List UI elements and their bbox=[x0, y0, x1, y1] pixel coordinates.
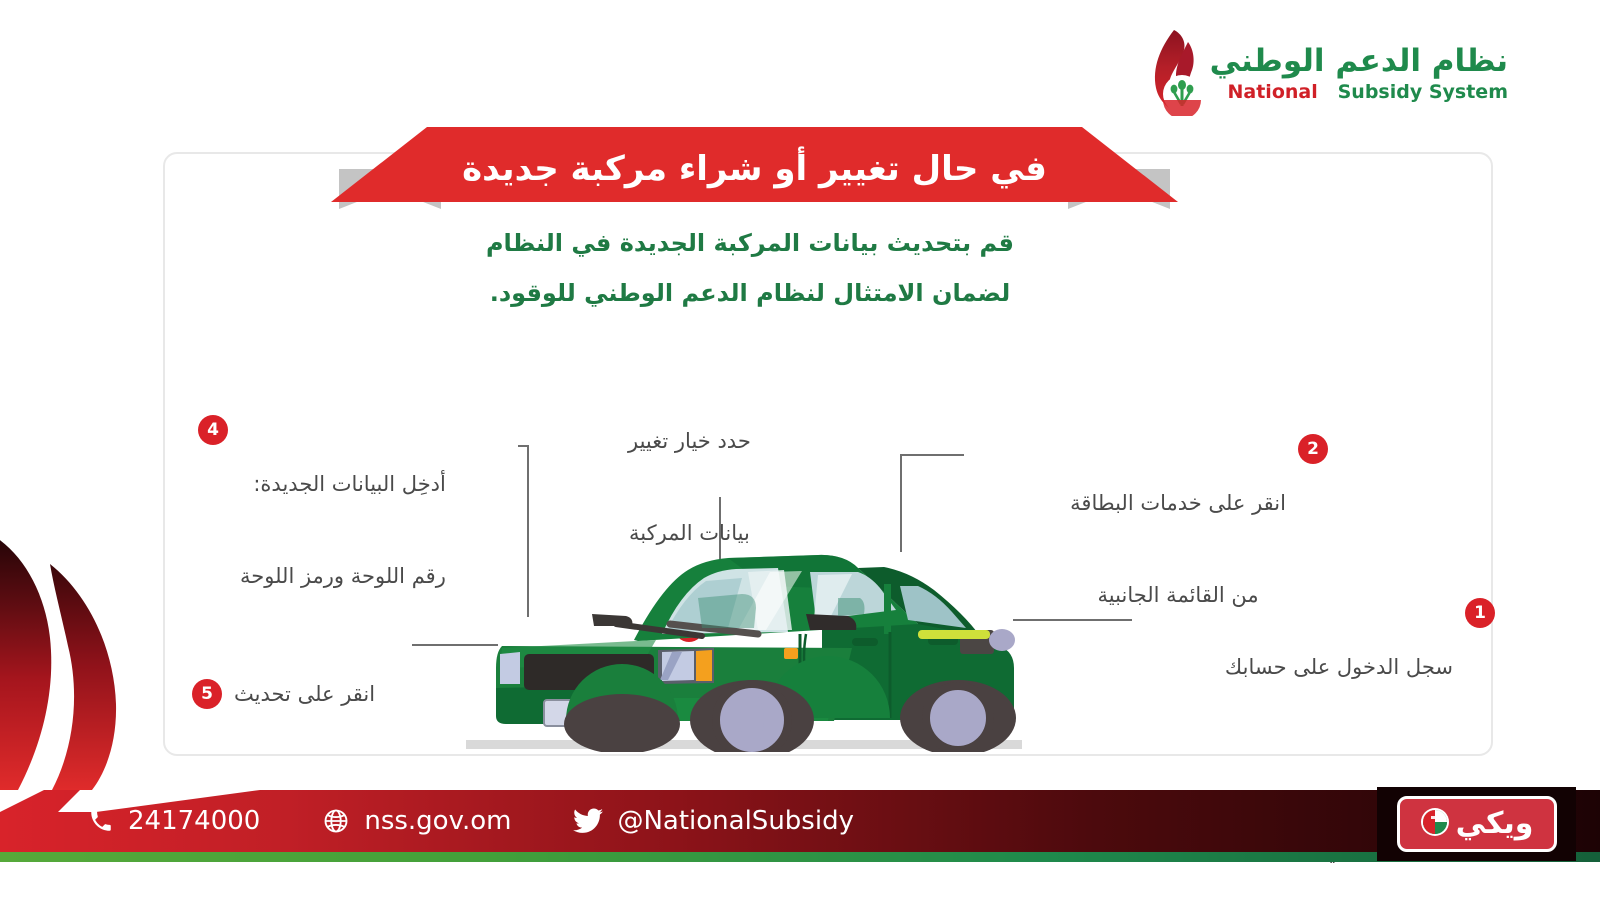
logo-english-name: National Subsidy System bbox=[1210, 83, 1508, 102]
flame-tree-emblem-icon bbox=[1130, 28, 1202, 120]
connector-line-step-2-horizontal bbox=[900, 454, 964, 456]
step-5-badge: 5 bbox=[192, 679, 222, 709]
step-2-line-2: من القائمة الجانبية bbox=[1070, 572, 1286, 618]
subtitle-line-2: لضمان الامتثال لنظام الدعم الوطني للوقود… bbox=[430, 268, 1070, 318]
step-4-line-2: رقم اللوحة ورمز اللوحة bbox=[240, 553, 446, 599]
nss-logo: نظام الدعم الوطني National Subsidy Syste… bbox=[1130, 28, 1508, 120]
step-5: 5 انقر على تحديث bbox=[192, 625, 375, 763]
step-4-text: أدخِل البيانات الجديدة: رقم اللوحة ورمز … bbox=[240, 415, 446, 645]
watermark: ويكي bbox=[1377, 787, 1576, 861]
watermark-text: ويكي bbox=[1456, 809, 1534, 839]
banner: في حال تغيير أو شراء مركبة جديدة bbox=[331, 127, 1178, 217]
step-4-badge: 4 bbox=[198, 415, 228, 445]
step-2-badge: 2 bbox=[1298, 434, 1328, 464]
step-2-line-1: انقر على خدمات البطاقة bbox=[1070, 480, 1286, 526]
infographic-page: نظام الدعم الوطني National Subsidy Syste… bbox=[0, 0, 1600, 901]
step-2-text: انقر على خدمات البطاقة من القائمة الجانب… bbox=[1070, 434, 1286, 664]
red-flame-decoration bbox=[0, 498, 118, 802]
footer-website-item[interactable]: nss.gov.om bbox=[322, 806, 511, 836]
step-1-badge: 1 bbox=[1465, 598, 1495, 628]
footer-phone-number: 24174000 bbox=[128, 806, 260, 836]
step-5-line-1: انقر على تحديث bbox=[234, 671, 375, 717]
footer-phone-item[interactable]: 24174000 bbox=[88, 806, 260, 836]
footer-green-stripe bbox=[0, 852, 1600, 862]
step-2: 2 انقر على خدمات البطاقة من القائمة الجا… bbox=[1070, 434, 1328, 664]
step-5-text: انقر على تحديث bbox=[234, 625, 375, 763]
banner-title: في حال تغيير أو شراء مركبة جديدة bbox=[331, 127, 1178, 202]
step-3-line-1: حدد خيار تغيير bbox=[628, 418, 751, 464]
footer-twitter-item[interactable]: @NationalSubsidy bbox=[573, 806, 854, 836]
green-sedan-car-illustration bbox=[466, 528, 1022, 756]
logo-text-block: نظام الدعم الوطني National Subsidy Syste… bbox=[1210, 46, 1508, 102]
footer-contact-items: 24174000 nss.gov.om @NationalSubsidy bbox=[88, 790, 854, 852]
subtitle-block: قم بتحديث بيانات المركبة الجديدة في النظ… bbox=[430, 218, 1070, 318]
globe-icon bbox=[322, 807, 350, 835]
step-4: 4 أدخِل البيانات الجديدة: رقم اللوحة ورم… bbox=[198, 415, 446, 645]
logo-english-word-subsidy-system: Subsidy System bbox=[1338, 81, 1508, 103]
phone-icon bbox=[88, 808, 114, 834]
logo-arabic-name: نظام الدعم الوطني bbox=[1210, 46, 1508, 77]
step-4-line-1: أدخِل البيانات الجديدة: bbox=[240, 461, 446, 507]
watermark-badge: ويكي bbox=[1397, 796, 1557, 852]
logo-english-word-national: National bbox=[1228, 81, 1318, 103]
connector-line-step-4-horizontal bbox=[518, 445, 529, 447]
oman-emblem-icon bbox=[1420, 807, 1450, 841]
footer-twitter-handle: @NationalSubsidy bbox=[617, 806, 854, 836]
subtitle-line-1: قم بتحديث بيانات المركبة الجديدة في النظ… bbox=[430, 218, 1070, 268]
twitter-bird-icon bbox=[573, 808, 603, 834]
footer-website-url: nss.gov.om bbox=[364, 806, 511, 836]
